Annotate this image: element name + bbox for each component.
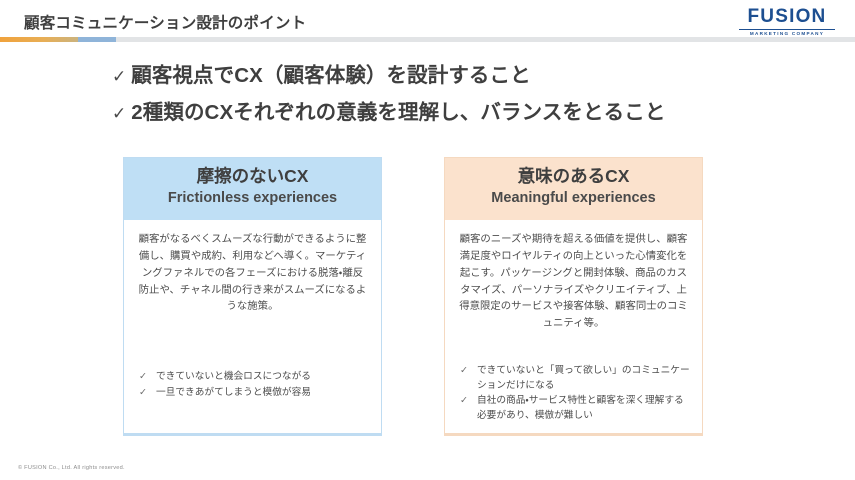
card-frictionless-cx: 摩擦のないCX Frictionless experiences 顧客がなるべく…: [123, 157, 382, 436]
copyright-notice: © FUSION Co., Ltd. All rights reserved.: [18, 465, 125, 471]
card-body: 顧客のニーズや期待を超える価値を提供し、顧客満足度やロイヤルティの向上といった心…: [445, 220, 702, 333]
card-bullet-list: ✓ できていないと「買って欲しい」のコミュニケーションだけになる ✓ 自社の商品…: [458, 364, 691, 425]
card-title-en: Meaningful experiences: [445, 189, 702, 208]
list-item-text: できていないと「買って欲しい」のコミュニケーションだけになる: [477, 364, 691, 393]
list-item-text: 自社の商品・サービス特性と顧客を深く理解する必要があり、模倣が難しい: [477, 394, 691, 423]
card-bullet-list: ✓ できていないと機会ロスにつながる ✓ 一旦できあがてしまうと模倣が容易: [137, 370, 370, 401]
check-icon: ✓: [458, 364, 477, 378]
logo-tagline: MARKETING COMPANY: [733, 32, 841, 37]
list-item: ✓ できていないと「買って欲しい」のコミュニケーションだけになる: [458, 364, 691, 393]
card-description: 顧客がなるべくスムーズな行動ができるように整備し、購買や成約、利用などへ導く。マ…: [137, 232, 368, 316]
card-header: 意味のあるCX Meaningful experiences: [445, 158, 702, 220]
logo-wordmark: FUSION: [733, 7, 841, 26]
list-item: ✓ できていないと機会ロスにつながる: [137, 370, 370, 385]
lead-bullet-text: 顧客視点でCX（顧客体験）を設計すること: [131, 62, 530, 90]
slide-header: 顧客コミュニケーション設計のポイント FUSION MARKETING COMP…: [0, 0, 855, 40]
list-item: ✓ 自社の商品・サービス特性と顧客を深く理解する必要があり、模倣が難しい: [458, 394, 691, 423]
page-title: 顧客コミュニケーション設計のポイント: [24, 11, 306, 33]
check-icon: ✓: [112, 67, 126, 87]
check-icon: ✓: [112, 104, 126, 124]
check-icon: ✓: [137, 370, 156, 384]
list-item: ✓ 一旦できあがてしまうと模倣が容易: [137, 386, 370, 401]
card-title-ja: 意味のあるCX: [445, 165, 702, 189]
accent-segment-blue: [78, 37, 116, 42]
check-icon: ✓: [137, 386, 156, 400]
list-item-text: 一旦できあがてしまうと模倣が容易: [156, 386, 370, 401]
card-header: 摩擦のないCX Frictionless experiences: [124, 158, 381, 220]
lead-bullet-item: ✓ 顧客視点でCX（顧客体験）を設計すること: [112, 62, 812, 90]
card-title-ja: 摩擦のないCX: [124, 165, 381, 189]
lead-bullet-text: 2種類のCXそれぞれの意義を理解し、バランスをとること: [131, 99, 665, 127]
lead-bullet-item: ✓ 2種類のCXそれぞれの意義を理解し、バランスをとること: [112, 99, 812, 127]
lead-bullet-list: ✓ 顧客視点でCX（顧客体験）を設計すること ✓ 2種類のCXそれぞれの意義を理…: [112, 62, 812, 135]
fusion-logo: FUSION MARKETING COMPANY: [733, 7, 841, 37]
accent-segment-orange: [0, 37, 78, 42]
logo-divider-rule: [739, 29, 835, 30]
header-accent-bar: [0, 37, 855, 42]
card-description: 顧客のニーズや期待を超える価値を提供し、顧客満足度やロイヤルティの向上といった心…: [458, 232, 689, 333]
list-item-text: できていないと機会ロスにつながる: [156, 370, 370, 385]
card-body: 顧客がなるべくスムーズな行動ができるように整備し、購買や成約、利用などへ導く。マ…: [124, 220, 381, 316]
check-icon: ✓: [458, 394, 477, 408]
card-title-en: Frictionless experiences: [124, 189, 381, 208]
card-meaningful-cx: 意味のあるCX Meaningful experiences 顧客のニーズや期待…: [444, 157, 703, 436]
